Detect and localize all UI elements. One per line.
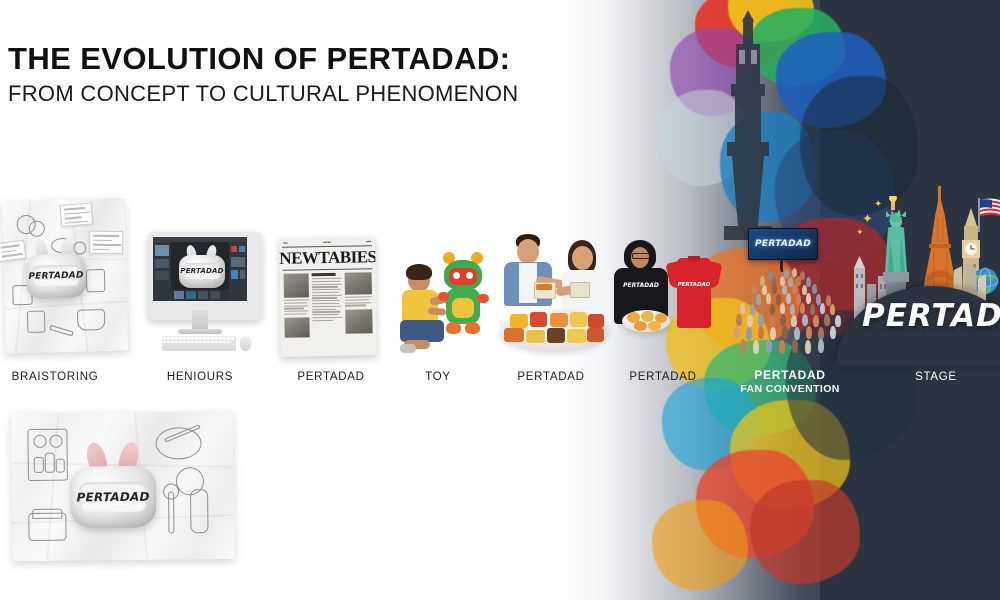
doodle-circle (29, 221, 45, 237)
sticky-note (60, 202, 94, 226)
held-food-box (570, 282, 590, 298)
toy-mascot (438, 248, 490, 358)
toy-eye-right (466, 272, 473, 279)
mouse[interactable] (240, 336, 251, 351)
stage-merch-artwork: PERTADAD PERTADAD (612, 238, 720, 362)
mascot-screen: PERTADAD (184, 263, 220, 279)
newspaper-photo (345, 309, 372, 333)
stage-toy-artwork (394, 248, 490, 360)
mascot-device: PERTADAD (70, 466, 157, 529)
caption-merch: PERTADAD (629, 371, 696, 383)
doodle-rect (27, 311, 46, 333)
jumbotron-brand-label: PERTADAD (755, 239, 811, 249)
hoodie-brand-label: PERTADAD (621, 282, 661, 289)
doodle-bar (45, 453, 55, 473)
caption-sublabel: FAN CONVENTION (740, 383, 840, 395)
caption-label: HENIOURS (167, 371, 233, 383)
toy-foot-right (465, 322, 480, 334)
tool-swatch (231, 257, 245, 267)
food-item (526, 330, 545, 343)
render-brand-label: PERTADAD (180, 267, 223, 275)
star-icon: ✦ (856, 228, 864, 237)
sticky-note (89, 231, 123, 254)
crowd (726, 268, 854, 354)
food-item (510, 314, 528, 328)
woman-head (572, 246, 593, 270)
mascot-screen: PERTADAD (33, 265, 80, 287)
food-item (530, 312, 547, 327)
infographic-canvas: THE EVOLUTION OF PERTADAD: FROM CONCEPT … (0, 0, 1000, 600)
stage-global-artwork: ✦ ✦ ✦ (852, 182, 1000, 362)
sketch-paper: PERTADAD (11, 411, 235, 561)
timeline-cell (174, 291, 184, 299)
doodle-spoon (49, 325, 73, 337)
tshirt-collar (688, 256, 700, 262)
caption-global-stage: STAGE (915, 371, 957, 383)
star-icon: ✦ (874, 200, 882, 210)
sticky-note (0, 240, 26, 262)
stage-fan-convention-artwork: PERTADAD (726, 228, 854, 360)
caption-label: PERTADAD (517, 371, 584, 383)
monitor-stand (192, 310, 208, 330)
caption-rendering: HENIOURS (167, 371, 233, 383)
mascot-device: PERTADAD (25, 253, 86, 299)
final-brand-logo: PERTADAD (862, 298, 1000, 334)
doodle-box-lid (32, 509, 62, 519)
monitor-screen: PERTADAD (153, 237, 247, 301)
tool-swatch (239, 246, 245, 252)
page-subtitle: FROM CONCEPT TO CULTURAL PHENOMENON (8, 81, 518, 107)
timeline-cell (198, 291, 208, 299)
caption-label: BRAISTORING (12, 371, 99, 383)
timeline-cell (186, 291, 196, 299)
child-shoe (400, 344, 416, 353)
doodle-bag (86, 269, 106, 292)
stage-rendering-artwork: PERTADAD (148, 232, 258, 360)
viewport-thumbnail (155, 245, 169, 256)
food-item (567, 329, 586, 343)
caption-food: PERTADAD (517, 371, 584, 383)
stage-press-artwork: ■■■■■■■■■■■ NEWTABIES (276, 238, 380, 360)
mascot-screen: PERTADAD (80, 482, 146, 513)
newspaper: ■■■■■■■■■■■ NEWTABIES (279, 237, 377, 357)
caption-label: PERTADAD (629, 371, 696, 383)
caption-brainstorming: BRAISTORING (12, 371, 99, 383)
keyboard[interactable] (162, 336, 236, 351)
man-head (517, 239, 539, 264)
monitor-bezel: PERTADAD (148, 232, 262, 320)
toy-arm-left (438, 292, 449, 301)
doodle-swirl (33, 435, 46, 448)
food-item (504, 328, 524, 342)
toy-belly (452, 298, 474, 318)
food-item (550, 313, 568, 327)
toy-arm-right (477, 294, 489, 303)
food-item (588, 314, 604, 328)
doodle-purse (77, 309, 106, 331)
timeline-cell (210, 291, 220, 299)
tshirt-body (677, 258, 711, 328)
monitor-base (178, 329, 222, 334)
glasses-icon (632, 253, 650, 259)
food-item (570, 312, 587, 327)
tshirt-brand-label: PERTADAD (677, 282, 711, 288)
caption-label: STAGE (915, 371, 957, 383)
doodle-ellipse (73, 241, 86, 254)
child-hair (406, 264, 432, 280)
us-flag-icon (978, 198, 1000, 232)
caption-label: PERTADAD (754, 368, 825, 382)
doodle-bar (34, 457, 44, 473)
toy-foot-left (446, 322, 461, 334)
stage-brainstorming-artwork: PERTADAD (2, 188, 130, 356)
food-item (587, 328, 604, 342)
caption-label: PERTADAD (297, 371, 364, 383)
child-shirt (402, 290, 438, 322)
bottom-sketch-brand-label: PERTADAD (77, 490, 150, 505)
sketch-paper: PERTADAD (2, 198, 128, 353)
star-icon: ✦ (862, 212, 873, 225)
caption-label: TOY (425, 371, 451, 383)
food-item (648, 321, 661, 331)
bottom-sketch-artwork: PERTADAD (8, 408, 240, 568)
sketch-brand-label: PERTADAD (28, 270, 83, 281)
viewport-thumbnail (155, 271, 169, 280)
caption-press: PERTADAD (297, 371, 364, 383)
doodle-swirl (49, 435, 62, 448)
tshirt-merch: PERTADAD (668, 256, 720, 340)
doodle-bar (56, 459, 65, 473)
jumbotron-screen: PERTADAD (748, 228, 818, 260)
food-item (547, 328, 565, 343)
heading-block: THE EVOLUTION OF PERTADAD: FROM CONCEPT … (8, 42, 518, 107)
tool-swatch (231, 246, 237, 252)
caption-toy: TOY (425, 371, 451, 383)
newspaper-masthead: NEWTABIES (279, 247, 375, 268)
caption-fan-convention: PERTADAD FAN CONVENTION (740, 368, 840, 395)
newspaper-photo (345, 272, 372, 294)
newspaper-photo (284, 273, 310, 297)
toy-eye-left (453, 272, 460, 279)
mascot-device-render: PERTADAD (179, 255, 225, 288)
food-item (634, 321, 647, 331)
viewport-thumbnail (155, 259, 169, 268)
newspaper-photo (284, 317, 309, 337)
monument-silhouette (712, 10, 784, 240)
tool-swatch (240, 270, 245, 279)
doodle-spoon-head (163, 483, 179, 499)
hoodie-person-figure: PERTADAD (612, 238, 670, 358)
stage-food-artwork (498, 228, 610, 360)
page-title: THE EVOLUTION OF PERTADAD: (8, 42, 518, 77)
doodle-fork (190, 489, 208, 533)
tool-swatch (231, 270, 238, 279)
